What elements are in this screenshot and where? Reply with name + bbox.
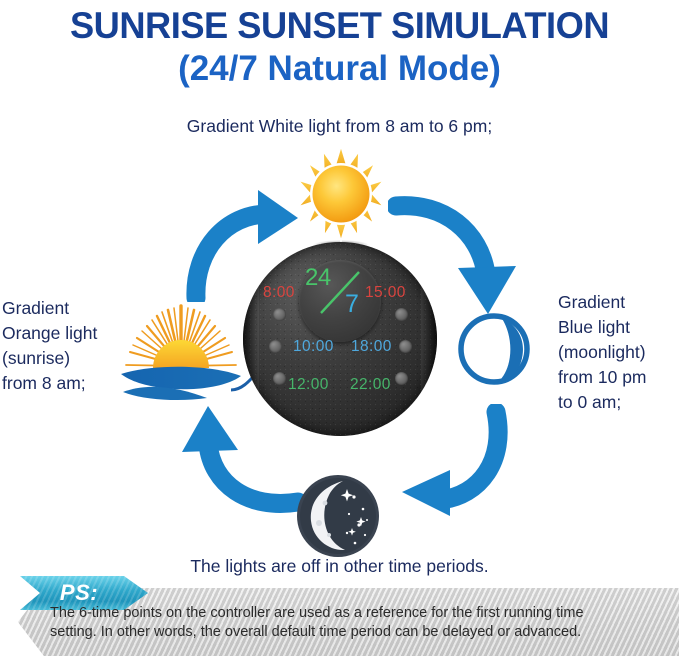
led-indicator-left-3[interactable] xyxy=(273,372,286,385)
timer-controller[interactable]: 24 7 8:00 15:00 10:00 18:00 12:00 22:00 xyxy=(243,252,437,428)
caption-orange-line-2: Orange light xyxy=(2,321,132,346)
caption-blue-light: Gradient Blue light (moonlight) from 10 … xyxy=(558,290,679,415)
caption-orange-light: Gradient Orange light (sunrise) from 8 a… xyxy=(2,296,132,396)
title-line-primary: SUNRISE SUNSET SIMULATION xyxy=(7,0,672,48)
led-indicator-left-2[interactable] xyxy=(269,340,282,353)
time-point-2200: 22:00 xyxy=(350,376,391,394)
ps-footer: PS: The 6-time points on the controller … xyxy=(0,576,679,656)
controller-body: 24 7 8:00 15:00 10:00 18:00 12:00 22:00 xyxy=(243,242,437,436)
sunrise-over-water-icon xyxy=(121,302,241,408)
led-indicator-right-1[interactable] xyxy=(395,308,408,321)
caption-orange-line-1: Gradient xyxy=(2,296,132,321)
time-point-1500: 15:00 xyxy=(365,284,406,302)
caption-white-light: Gradient White light from 8 am to 6 pm; xyxy=(0,114,679,139)
brand-denominator: 7 xyxy=(345,290,359,319)
caption-blue-line-1: Gradient xyxy=(558,290,679,315)
caption-blue-line-5: to 0 am; xyxy=(558,390,679,415)
controller-bezel-left xyxy=(243,242,259,436)
caption-blue-line-3: (moonlight) xyxy=(558,340,679,365)
time-point-1200: 12:00 xyxy=(288,376,329,394)
ps-note-text: The 6-time points on the controller are … xyxy=(50,604,658,642)
time-point-1000: 10:00 xyxy=(293,338,334,356)
night-moon-stars-icon xyxy=(295,473,381,559)
page-title: SUNRISE SUNSET SIMULATION (24/7 Natural … xyxy=(0,0,679,90)
ps-note-line-2: setting. In other words, the overall def… xyxy=(50,623,658,642)
caption-blue-line-2: Blue light xyxy=(558,315,679,340)
caption-orange-line-4: from 8 am; xyxy=(2,371,132,396)
title-line-secondary: (24/7 Natural Mode) xyxy=(0,48,679,90)
led-indicator-right-2[interactable] xyxy=(399,340,412,353)
time-point-0800: 8:00 xyxy=(263,284,295,302)
led-indicator-left-1[interactable] xyxy=(273,308,286,321)
ps-note-line-1: The 6-time points on the controller are … xyxy=(50,604,658,623)
caption-blue-line-4: from 10 pm xyxy=(558,365,679,390)
crescent-moon-icon xyxy=(457,312,531,386)
time-point-1800: 18:00 xyxy=(351,338,392,356)
led-indicator-right-3[interactable] xyxy=(395,372,408,385)
caption-orange-line-3: (sunrise) xyxy=(2,346,132,371)
controller-bezel-right xyxy=(421,242,437,436)
